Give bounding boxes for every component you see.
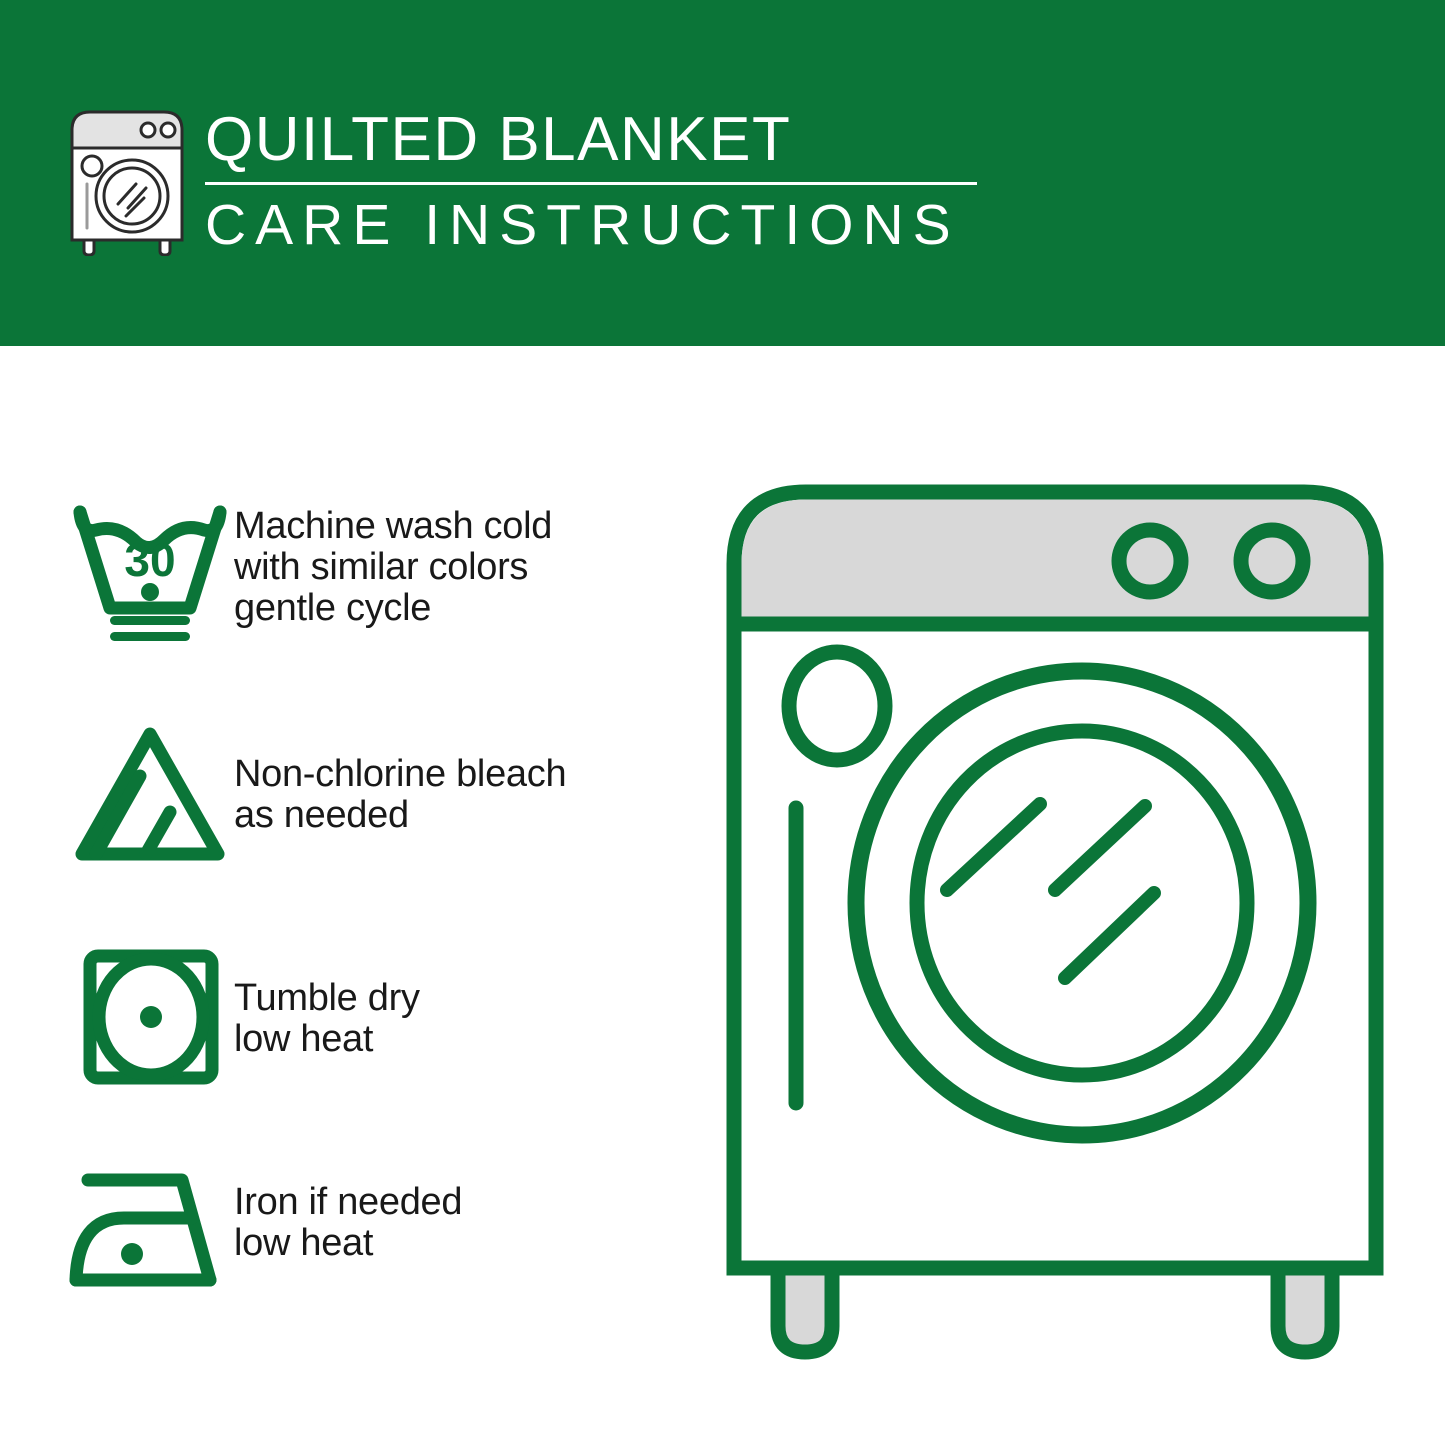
page-subtitle: CARE INSTRUCTIONS	[205, 193, 995, 257]
washer-knob-left	[1119, 530, 1181, 592]
wash-tub-30-gentle-icon: 30	[66, 494, 234, 644]
wash-temperature-label: 30	[124, 534, 175, 586]
care-instructions-page: QUILTED BLANKET CARE INSTRUCTIONS	[0, 0, 1445, 1445]
care-row-iron: Iron if needed low heat	[66, 1156, 686, 1306]
washer-indicator-circle	[789, 652, 885, 760]
washing-machine-logo-icon	[66, 104, 188, 256]
iron-low-heat-icon	[66, 1156, 234, 1306]
care-text-bleach: Non-chlorine bleach as needed	[234, 718, 686, 836]
care-text-machine-wash: Machine wash cold with similar colors ge…	[234, 494, 686, 629]
non-chlorine-bleach-triangle-icon	[66, 718, 234, 868]
washer-leg-right	[1278, 1268, 1332, 1352]
care-text-tumble-dry: Tumble dry low heat	[234, 942, 686, 1060]
care-text-iron: Iron if needed low heat	[234, 1156, 686, 1264]
washer-leg-left	[778, 1268, 832, 1352]
tumble-dry-low-icon	[66, 942, 234, 1092]
front-load-washing-machine-illustration	[722, 478, 1388, 1364]
washer-door-inner-ring	[917, 731, 1247, 1075]
title-divider	[205, 182, 977, 185]
care-row-machine-wash: 30 Machine wash cold with similar colors…	[66, 494, 686, 644]
care-row-bleach: Non-chlorine bleach as needed	[66, 718, 686, 868]
header-title-group: QUILTED BLANKET CARE INSTRUCTIONS	[205, 104, 995, 256]
care-row-tumble-dry: Tumble dry low heat	[66, 942, 686, 1092]
header-banner: QUILTED BLANKET CARE INSTRUCTIONS	[0, 0, 1445, 346]
washer-knob-right	[1241, 530, 1303, 592]
care-instruction-list: 30 Machine wash cold with similar colors…	[0, 346, 700, 1445]
page-title: QUILTED BLANKET	[205, 104, 995, 176]
